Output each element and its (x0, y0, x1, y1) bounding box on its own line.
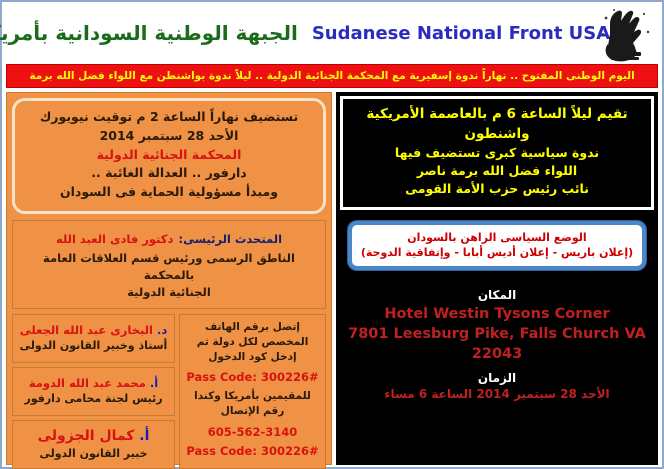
speaker-prefix: أ. (134, 428, 149, 444)
speaker-name-row: د. البخارى عبد الله الجعلى (20, 322, 168, 338)
speaker-prefix: أ. (146, 376, 158, 390)
speaker-name-row: أ. محمد عبد الله الدومة (29, 375, 158, 391)
daytime-line-3: المحكمة الجنائية الدولية (23, 146, 315, 165)
lower-panels: إتصل برقم الهاتف المخصص لكل دولة ثم إدخل… (12, 314, 326, 469)
speaker-name-row: أ. كمال الجزولى (38, 427, 150, 447)
main-speaker-heading: المتحدث الرئيسى: (179, 232, 283, 246)
speaker-card: أ. محمد عبد الله الدومة رئيس لجنة محامى … (12, 367, 175, 416)
speaker-title: رئيس لجنة محامى دارفور (24, 391, 162, 406)
speaker-title: أستاذ وخبير القانون الدولى (20, 338, 168, 353)
main-speaker-heading-row: المتحدث الرئيسى: دكتور فادى العبد الله (19, 226, 319, 250)
time-value: الأحد 28 سبتمبر 2014 الساعة 6 مساء (384, 387, 609, 401)
brand-block: الجبهة الوطنية السودانية بأمريكا Sudanes… (2, 2, 590, 64)
evening-line-3: ندوة سياسية كبرى تستضيف فيها (351, 144, 643, 162)
evening-event-box: تقيم ليلاً الساعة 6 م بالعاصمة الأمريكية… (340, 96, 654, 210)
main-speaker-title-2: الجنائية الدولية (19, 284, 319, 301)
speaker-name: محمد عبد الله الدومة (29, 376, 146, 390)
dial-instruction: إتصل برقم الهاتف المخصص لكل دولة ثم إدخل… (185, 320, 320, 366)
speaker-title: خبير القانون الدولى (39, 446, 147, 461)
topic-line-1: الوضع السياسى الراهن بالسودان (358, 230, 636, 246)
evening-line-5: نائب رئيس حزب الأمة القومى (351, 180, 643, 198)
event-poster: الجبهة الوطنية السودانية بأمريكا Sudanes… (0, 0, 664, 469)
venue-block: المكان Hotel Westin Tysons Corner 7801 L… (340, 270, 654, 465)
brand-title-arabic: الجبهة الوطنية السودانية بأمريكا (0, 21, 298, 45)
venue-zip: 22043 (472, 345, 522, 365)
dial-phone-number[interactable]: 605-562-3140 (185, 425, 320, 439)
pass-code-1: Pass Code: 300226# (185, 370, 320, 384)
venue-street: 7801 Leesburg Pike, Falls Church VA (348, 325, 646, 345)
venue-label: المكان (478, 288, 516, 302)
speaker-name: كمال الجزولى (38, 428, 135, 444)
topic-line-2: (إعلان باريس - إعلان أديس أبابا - وإتفاق… (358, 245, 636, 261)
venue-name: Hotel Westin Tysons Corner (384, 305, 609, 325)
daytime-event-column: تستضيف نهاراً الساعة 2 م توقيت نيويورك ا… (6, 92, 332, 465)
main-speaker-title-1: الناطق الرسمى ورئيس قسم العلاقات العامة … (19, 250, 319, 285)
announcement-banner: اليوم الوطنى المفتوح .. نهاراً ندوة إسفي… (6, 64, 658, 88)
topic-box: الوضع السياسى الراهن بالسودان (إعلان بار… (348, 221, 646, 271)
poster-body: تقيم ليلاً الساعة 6 م بالعاصمة الأمريكية… (6, 92, 658, 465)
daytime-line-2: الأحد 28 سبتمبر 2014 (23, 127, 315, 146)
evening-line-4: اللواء فضل الله برمة ناصر (351, 162, 643, 180)
main-speaker-name: دكتور فادى العبد الله (56, 232, 173, 246)
daytime-line-5: ومبدأ مسؤولية الحماية فى السودان (23, 183, 315, 202)
raised-fist-icon (594, 4, 656, 62)
speaker-prefix: د. (153, 323, 167, 337)
dial-in-box: إتصل برقم الهاتف المخصص لكل دولة ثم إدخل… (179, 314, 326, 469)
evening-line-2: واشنطون (351, 125, 643, 145)
poster-header: الجبهة الوطنية السودانية بأمريكا Sudanes… (2, 2, 662, 64)
speaker-name: البخارى عبد الله الجعلى (20, 323, 153, 337)
time-label: الزمان (478, 371, 516, 385)
brand-title-english: Sudanese National Front USA (312, 23, 610, 44)
daytime-line-4: دارفور .. العدالة الغائبة .. (23, 164, 315, 183)
speaker-card: د. البخارى عبد الله الجعلى أستاذ وخبير ا… (12, 314, 175, 363)
speaker-card: أ. كمال الجزولى خبير القانون الدولى (12, 420, 175, 469)
main-speaker-box: المتحدث الرئيسى: دكتور فادى العبد الله ا… (12, 220, 326, 309)
daytime-event-box: تستضيف نهاراً الساعة 2 م توقيت نيويورك ا… (12, 98, 326, 214)
evening-event-column: تقيم ليلاً الساعة 6 م بالعاصمة الأمريكية… (336, 92, 658, 465)
pass-code-2: Pass Code: 300226# (185, 444, 320, 458)
speaker-list: د. البخارى عبد الله الجعلى أستاذ وخبير ا… (12, 314, 175, 469)
us-dial-instruction: للمقيمين بأمريكا وكندا رقم الإتصال (185, 389, 320, 419)
evening-line-1: تقيم ليلاً الساعة 6 م بالعاصمة الأمريكية (351, 105, 643, 125)
daytime-line-1: تستضيف نهاراً الساعة 2 م توقيت نيويورك (23, 108, 315, 127)
